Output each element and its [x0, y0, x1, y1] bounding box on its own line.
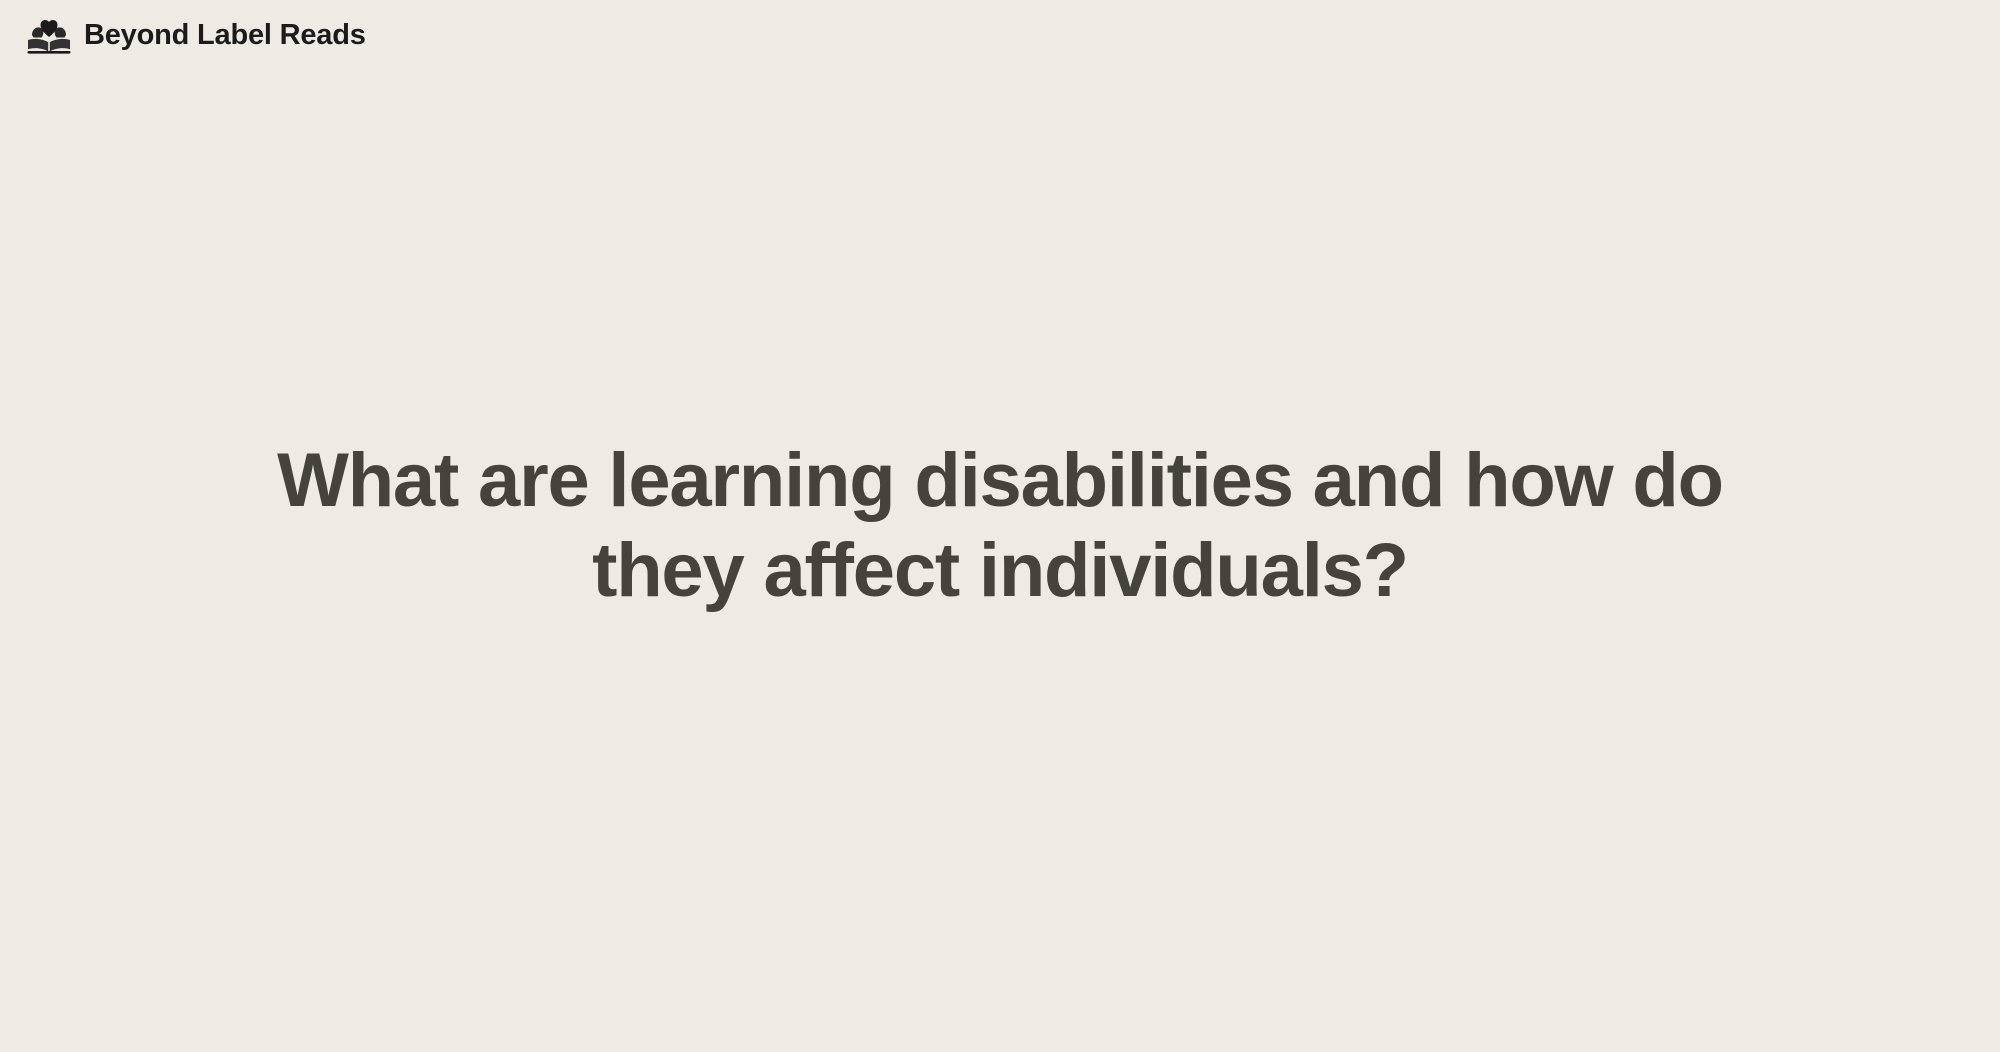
open-book-with-leaves-icon [26, 15, 72, 55]
brand-name: Beyond Label Reads [84, 21, 366, 50]
hero-inner: What are learning disabilities and how d… [200, 436, 1800, 615]
page-title: What are learning disabilities and how d… [250, 436, 1750, 615]
hero-section: What are learning disabilities and how d… [0, 0, 2000, 1052]
brand-logo[interactable]: Beyond Label Reads [26, 14, 366, 56]
